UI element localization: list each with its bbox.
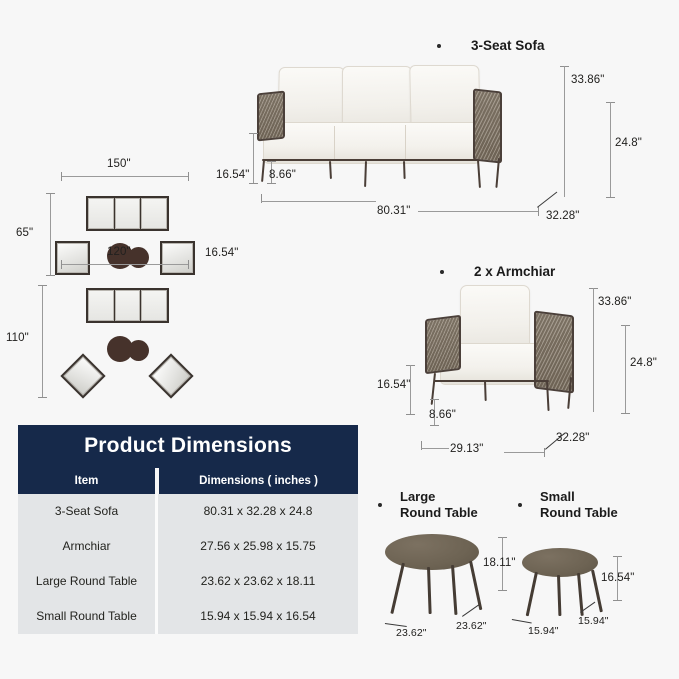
small-table-dia-right-line bbox=[580, 602, 595, 613]
small-table-height-label: 16.54" bbox=[601, 572, 634, 584]
infographic-canvas: 150" 65" 16.54" 120" bbox=[0, 0, 679, 679]
small-table-dia-right-label: 15.94" bbox=[578, 615, 609, 627]
small-table-height-cap-bottom bbox=[613, 600, 622, 601]
small-table-dimensions: 16.54" 15.94" 15.94" bbox=[0, 0, 679, 679]
small-table-dia-left-line bbox=[512, 619, 532, 623]
small-table-dia-left-label: 15.94" bbox=[528, 625, 559, 637]
